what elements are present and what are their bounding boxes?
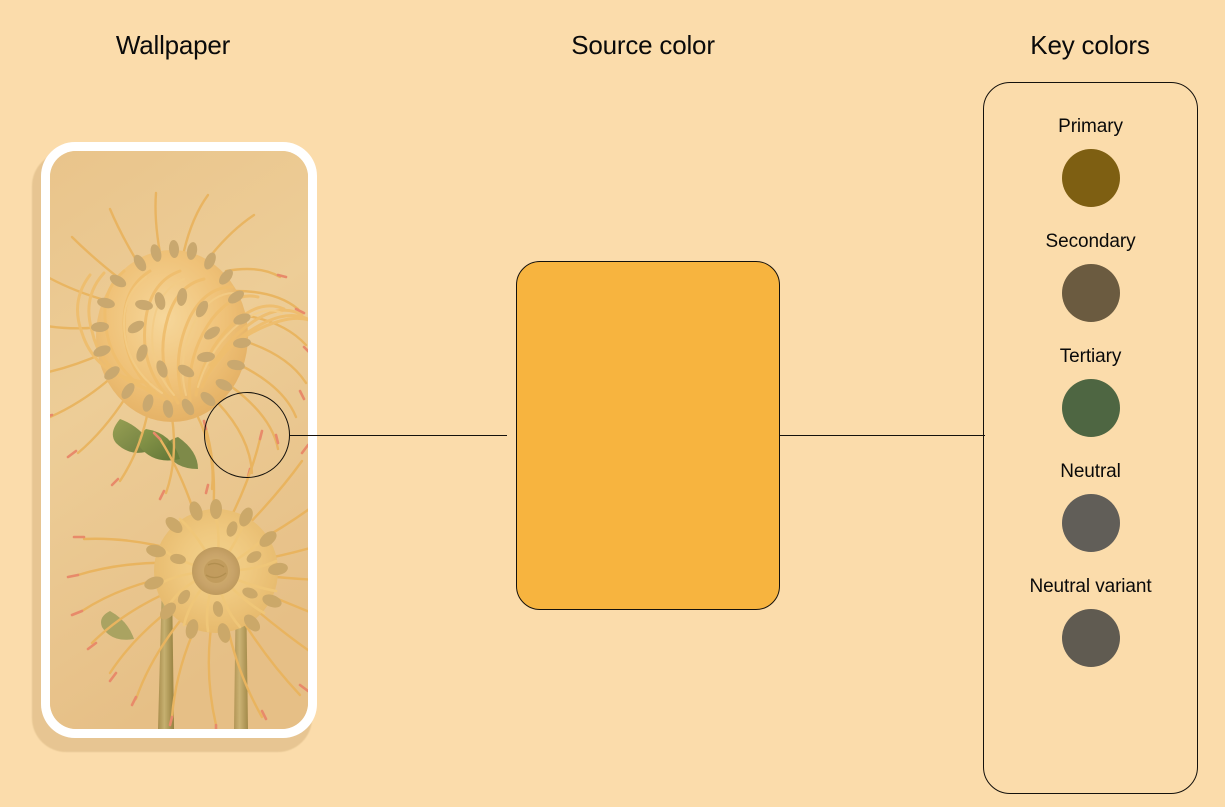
key-color-secondary[interactable]: Secondary xyxy=(984,230,1197,322)
key-color-label: Tertiary xyxy=(1060,345,1122,369)
key-color-label: Neutral xyxy=(1060,460,1121,484)
heading-source-color: Source color xyxy=(571,30,715,61)
key-color-label: Primary xyxy=(1058,115,1123,139)
key-color-label: Neutral variant xyxy=(1029,575,1151,599)
key-color-primary[interactable]: Primary xyxy=(984,115,1197,207)
source-to-key-colors-connector xyxy=(780,435,985,436)
key-color-dot xyxy=(1062,149,1120,207)
key-color-dot xyxy=(1062,264,1120,322)
key-color-dot xyxy=(1062,609,1120,667)
key-color-dot xyxy=(1062,494,1120,552)
key-color-dot xyxy=(1062,379,1120,437)
key-color-tertiary[interactable]: Tertiary xyxy=(984,345,1197,437)
wallpaper-to-source-connector xyxy=(290,435,507,436)
diagram-stage: Wallpaper Source color Key colors xyxy=(0,0,1225,807)
heading-key-colors: Key colors xyxy=(1030,30,1149,61)
key-color-neutral[interactable]: Neutral xyxy=(984,460,1197,552)
key-color-neutral-variant[interactable]: Neutral variant xyxy=(984,575,1197,667)
key-colors-panel: Primary Secondary Tertiary Neutral Neutr… xyxy=(983,82,1198,794)
key-color-label: Secondary xyxy=(1046,230,1136,254)
heading-wallpaper: Wallpaper xyxy=(116,30,230,61)
source-color-swatch[interactable] xyxy=(516,261,780,610)
wallpaper-sample-circle xyxy=(204,392,290,478)
